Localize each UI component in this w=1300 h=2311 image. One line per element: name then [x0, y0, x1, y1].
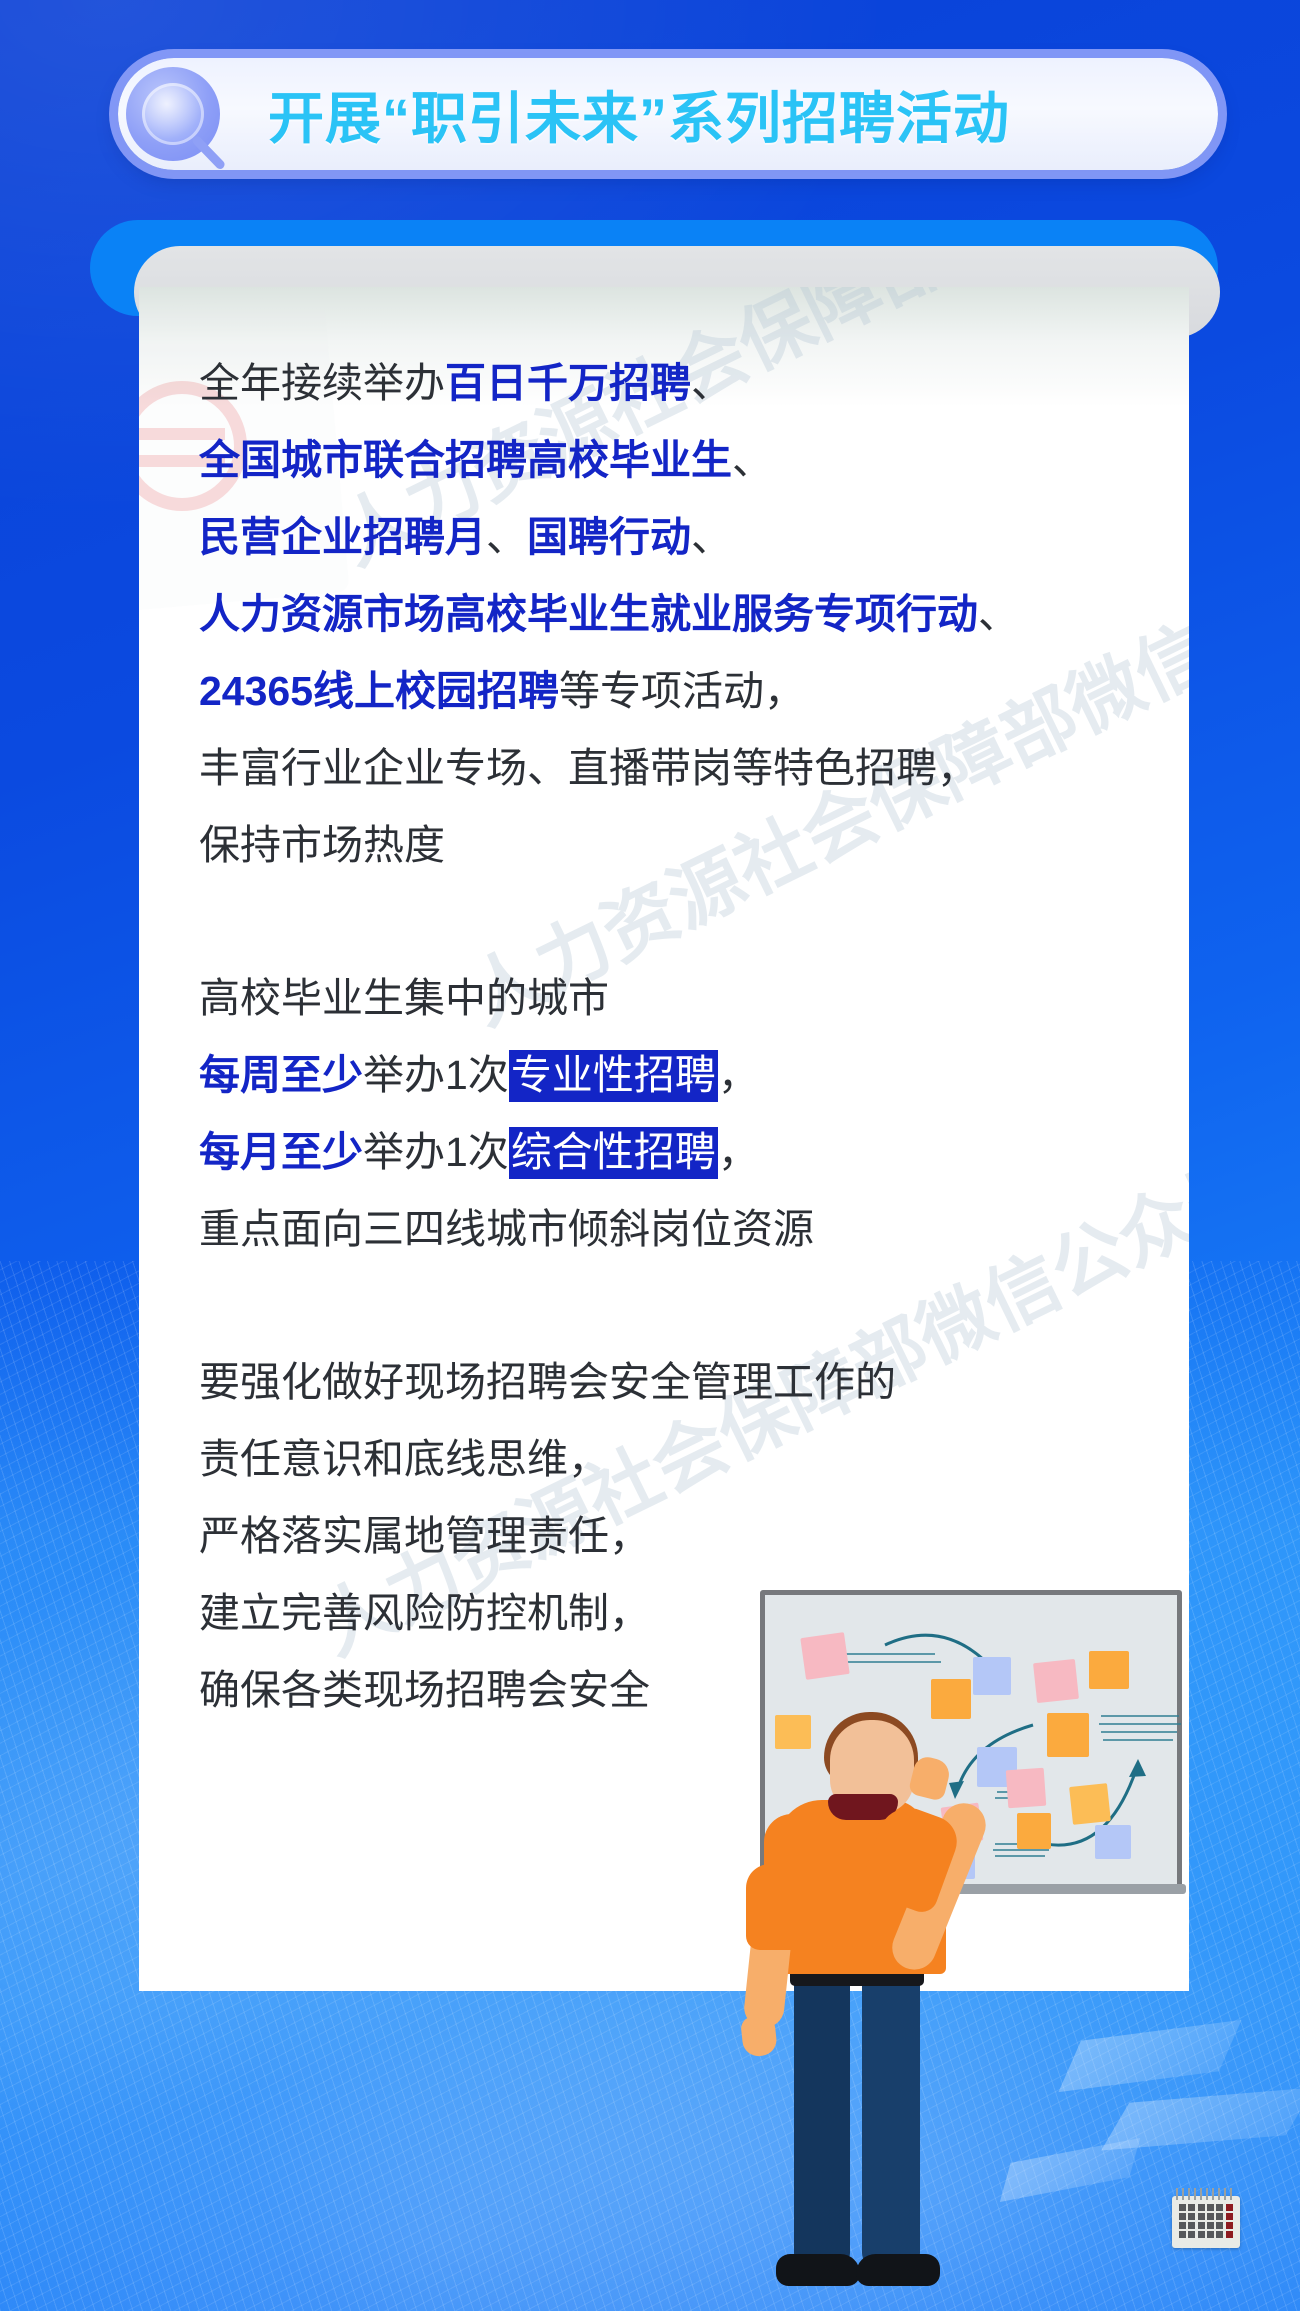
text-line: 责任意识和底线思维， [199, 1421, 1159, 1498]
magnifier-icon [112, 53, 234, 175]
calendar-cell [1188, 2204, 1195, 2211]
emphasis-text: 民营企业招聘月 [199, 514, 486, 560]
calendar-cell [1188, 2213, 1195, 2220]
header-banner: 开展“职引未来”系列招聘活动 [118, 58, 1218, 170]
body-text: 等专项活动， [559, 668, 805, 714]
emphasis-text: 国聘行动 [527, 514, 691, 560]
body-text: ， [718, 1129, 759, 1175]
text-line: 全年接续举办百日千万招聘、 [199, 345, 1159, 422]
calendar-cell [1188, 2222, 1195, 2229]
body-text: 重点面向三四线城市倾斜岗位资源 [199, 1206, 814, 1252]
paragraph: 全年接续举办百日千万招聘、全国城市联合招聘高校毕业生、民营企业招聘月、国聘行动、… [199, 345, 1159, 884]
calendar-cell [1226, 2204, 1233, 2211]
sticky-note [1047, 1713, 1089, 1757]
sticky-note [1089, 1651, 1129, 1689]
person-back-view [716, 1642, 1016, 2311]
text-line: 全国城市联合招聘高校毕业生、 [199, 422, 1159, 499]
calendar-cell [1198, 2222, 1205, 2229]
body-text: 严格落实属地管理责任， [199, 1513, 650, 1559]
paragraph: 高校毕业生集中的城市每周至少举办1次专业性招聘，每月至少举办1次综合性招聘，重点… [199, 960, 1159, 1268]
calendar-cell [1188, 2231, 1195, 2238]
body-text: 建立完善风险防控机制， [199, 1590, 650, 1636]
calendar-cell [1207, 2204, 1214, 2211]
body-text: 、 [691, 514, 732, 560]
body-text: 、 [691, 360, 732, 406]
body-text: 高校毕业生集中的城市 [199, 975, 609, 1021]
calendar-cell [1216, 2222, 1223, 2229]
sticky-note [1017, 1813, 1051, 1849]
page-title: 开展“职引未来”系列招聘活动 [268, 74, 1010, 155]
emphasis-text: 全国城市联合招聘高校毕业生 [199, 437, 732, 483]
calendar-cell [1226, 2213, 1233, 2220]
text-line: 重点面向三四线城市倾斜岗位资源 [199, 1191, 1159, 1268]
highlighted-text: 专业性招聘 [509, 1050, 718, 1102]
calendar-cell [1179, 2231, 1186, 2238]
text-line: 人力资源市场高校毕业生就业服务专项行动、 [199, 576, 1159, 653]
body-text: 全年接续举办 [199, 360, 445, 406]
calendar-cell [1198, 2204, 1205, 2211]
calendar-cell [1226, 2222, 1233, 2229]
highlighted-text: 综合性招聘 [509, 1127, 718, 1179]
calendar-cell [1216, 2204, 1223, 2211]
card-body-text: 全年接续举办百日千万招聘、全国城市联合招聘高校毕业生、民营企业招聘月、国聘行动、… [199, 345, 1159, 1729]
text-line: 高校毕业生集中的城市 [199, 960, 1159, 1037]
emphasis-text: 24365线上校园招聘 [199, 668, 559, 714]
calendar-cell [1179, 2204, 1186, 2211]
sticky-note [1095, 1825, 1131, 1859]
text-line: 24365线上校园招聘等专项活动， [199, 653, 1159, 730]
calendar-cell [1207, 2231, 1214, 2238]
calendar-cell [1216, 2213, 1223, 2220]
calendar-icon [1172, 2188, 1240, 2248]
text-line: 民营企业招聘月、国聘行动、 [199, 499, 1159, 576]
body-text: 保持市场热度 [199, 822, 445, 868]
calendar-cell [1207, 2222, 1214, 2229]
body-text: 责任意识和底线思维， [199, 1436, 609, 1482]
body-text: 举办1次 [363, 1052, 509, 1098]
calendar-cell [1216, 2231, 1223, 2238]
emphasis-text: 每月至少 [199, 1129, 363, 1175]
emphasis-text: 人力资源市场高校毕业生就业服务专项行动 [199, 591, 978, 637]
calendar-cell [1198, 2213, 1205, 2220]
body-text: 、 [732, 437, 773, 483]
emphasis-text: 每周至少 [199, 1052, 363, 1098]
text-line: 每周至少举办1次专业性招聘， [199, 1037, 1159, 1114]
body-text: ， [718, 1052, 759, 1098]
body-text: 要强化做好现场招聘会安全管理工作的 [199, 1359, 896, 1405]
text-line: 丰富行业企业专场、直播带岗等特色招聘， [199, 730, 1159, 807]
text-line: 保持市场热度 [199, 807, 1159, 884]
calendar-cell [1179, 2213, 1186, 2220]
text-line: 要强化做好现场招聘会安全管理工作的 [199, 1344, 1159, 1421]
calendar-cell [1198, 2231, 1205, 2238]
body-text: 确保各类现场招聘会安全 [199, 1667, 650, 1713]
text-line: 每月至少举办1次综合性招聘， [199, 1114, 1159, 1191]
calendar-cell [1226, 2231, 1233, 2238]
calendar-cell [1207, 2213, 1214, 2220]
calendar-cell [1179, 2222, 1186, 2229]
text-line: 严格落实属地管理责任， [199, 1498, 1159, 1575]
body-text: 举办1次 [363, 1129, 509, 1175]
sticky-note [1069, 1783, 1111, 1825]
body-text: 、 [978, 591, 1019, 637]
body-text: 、 [486, 514, 527, 560]
body-text: 丰富行业企业专场、直播带岗等特色招聘， [199, 745, 978, 791]
emphasis-text: 百日千万招聘 [445, 360, 691, 406]
sticky-note [1033, 1659, 1079, 1703]
